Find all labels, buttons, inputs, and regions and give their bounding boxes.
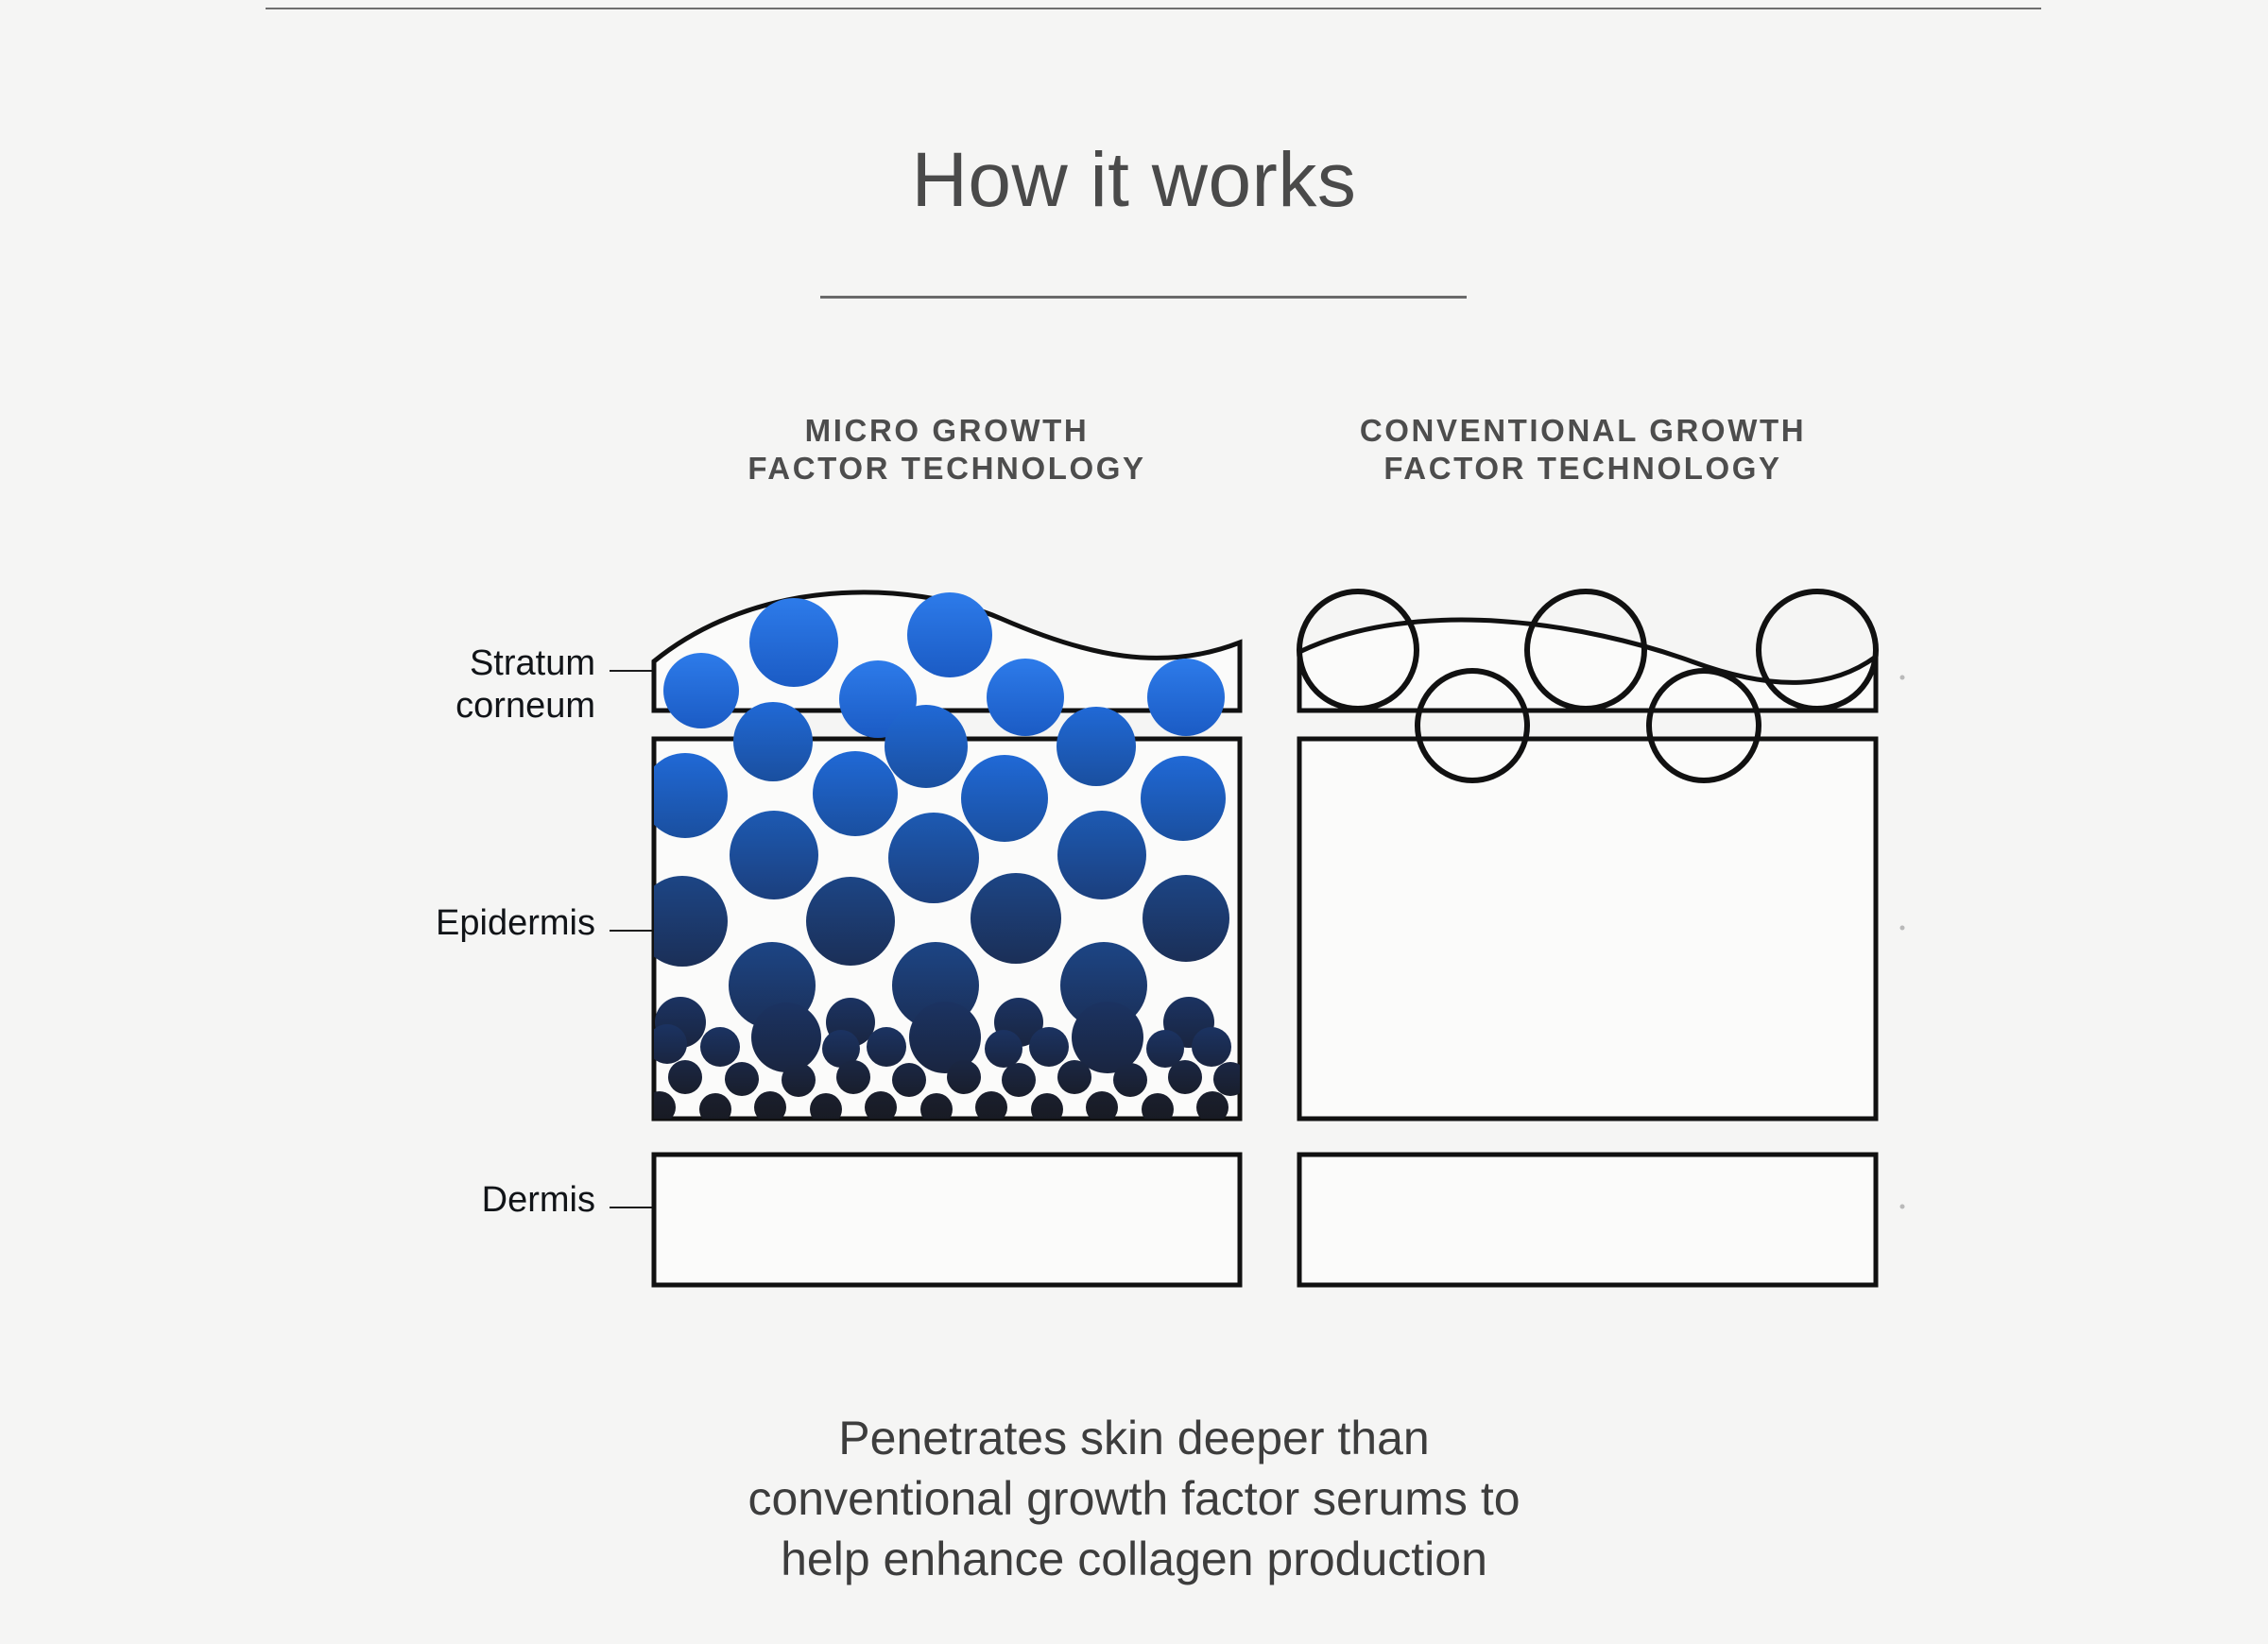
infographic-canvas: How it works MICRO GROWTH FACTOR TECHNOL… [0, 0, 2268, 1644]
leader-line-stratum-corneum [610, 670, 661, 672]
conventional-particle [1649, 671, 1759, 780]
particle-group-epidermis [637, 751, 1247, 1125]
stratum-corneum-box-left [654, 592, 1240, 711]
epidermis-box-left [654, 739, 1240, 1119]
conventional-particle [1299, 591, 1417, 709]
dermis-box-left [654, 1155, 1240, 1285]
conventional-particle [1759, 591, 1876, 709]
edge-speck-group [1900, 676, 1905, 1209]
epidermis-box-right [1299, 739, 1876, 1119]
conventional-particle [1417, 671, 1527, 780]
leader-line-dermis [610, 1207, 661, 1208]
particle-group-boundary [733, 702, 1136, 788]
infographic-caption: Penetrates skin deeper than conventional… [0, 1408, 2268, 1589]
particle-group-surface [663, 592, 1225, 738]
particle-group-conventional [1299, 591, 1876, 780]
layer-label-epidermis: Epidermis [283, 902, 595, 945]
skin-penetration-diagram [0, 0, 2268, 1644]
page-title: How it works [0, 142, 2268, 219]
top-divider-rule [266, 8, 2041, 9]
column-header-conventional: CONVENTIONAL GROWTH FACTOR TECHNOLOGY [1280, 412, 1885, 488]
title-underline-rule [820, 296, 1467, 299]
panel-micro-growth-factor [637, 592, 1247, 1285]
conventional-particle [1527, 591, 1644, 709]
column-header-micro: MICRO GROWTH FACTOR TECHNOLOGY [654, 412, 1240, 488]
leader-line-epidermis [610, 930, 661, 932]
layer-label-stratum-corneum: Stratum corneum [283, 642, 595, 728]
stratum-corneum-box-right [1299, 620, 1876, 711]
panel-conventional-growth-factor [1299, 591, 1876, 1285]
layer-label-dermis: Dermis [283, 1179, 595, 1222]
dermis-box-right [1299, 1155, 1876, 1285]
